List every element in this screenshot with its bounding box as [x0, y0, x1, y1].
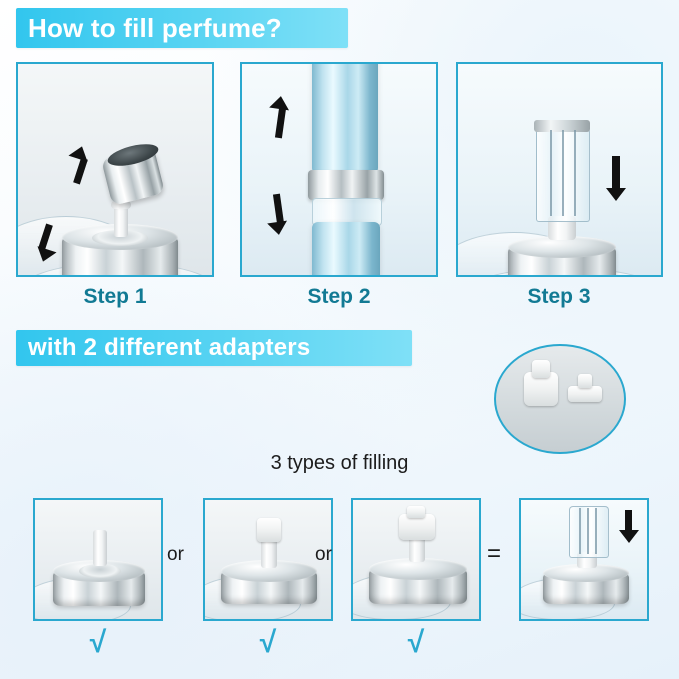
adapter-large-neck — [532, 360, 550, 378]
checkmark-option-1: √ — [33, 628, 163, 658]
filling-option-1-photo — [33, 498, 163, 621]
filling-option-3-photo — [351, 498, 481, 621]
filling-types-title: 3 types of filling — [0, 452, 679, 475]
filling-result-photo — [519, 498, 649, 621]
atomizer-straw-left — [579, 508, 581, 554]
atomizer-straw-right — [574, 130, 576, 216]
atomizer-straw-middle — [587, 508, 589, 554]
or-separator-1: or — [167, 544, 184, 566]
page-title: How to fill perfume? — [28, 13, 282, 44]
pump-nozzle — [114, 205, 128, 237]
step-1-photo — [16, 62, 214, 277]
atomizer-straw-left — [550, 130, 552, 216]
adapters-label: with 2 different adapters — [28, 334, 310, 362]
pump-nozzle — [261, 538, 277, 568]
white-adapter-small — [257, 518, 281, 542]
checkmark-option-2: √ — [203, 628, 333, 658]
equals-sign: = — [487, 540, 501, 568]
checkmark-option-3: √ — [351, 628, 481, 658]
pump-collar — [79, 564, 121, 578]
adapter-small-neck — [578, 374, 592, 388]
step-1-label: Step 1 — [16, 285, 214, 309]
step-3-photo — [456, 62, 663, 277]
filling-option-2-photo — [203, 498, 333, 621]
atomizer-straw-right — [595, 508, 597, 554]
step-3-label: Step 3 — [460, 285, 658, 309]
infographic-page: How to fill perfume? — [0, 0, 679, 679]
step-2-label: Step 2 — [240, 285, 438, 309]
adapter-small-body — [568, 386, 602, 402]
adapters-photo — [494, 344, 626, 454]
perfume-tube-upper — [312, 62, 378, 174]
tube-metal-collar — [308, 170, 384, 200]
page-title-banner: How to fill perfume? — [16, 8, 348, 48]
white-adapter-large-neck — [407, 506, 425, 518]
perfume-tube-lower — [312, 222, 380, 277]
glass-atomizer — [569, 506, 609, 558]
or-separator-2: or — [315, 544, 332, 566]
atomizer-straw-middle — [562, 130, 564, 216]
adapters-banner: with 2 different adapters — [16, 330, 412, 366]
step-2-photo — [240, 62, 438, 277]
pump-nozzle — [93, 530, 107, 566]
